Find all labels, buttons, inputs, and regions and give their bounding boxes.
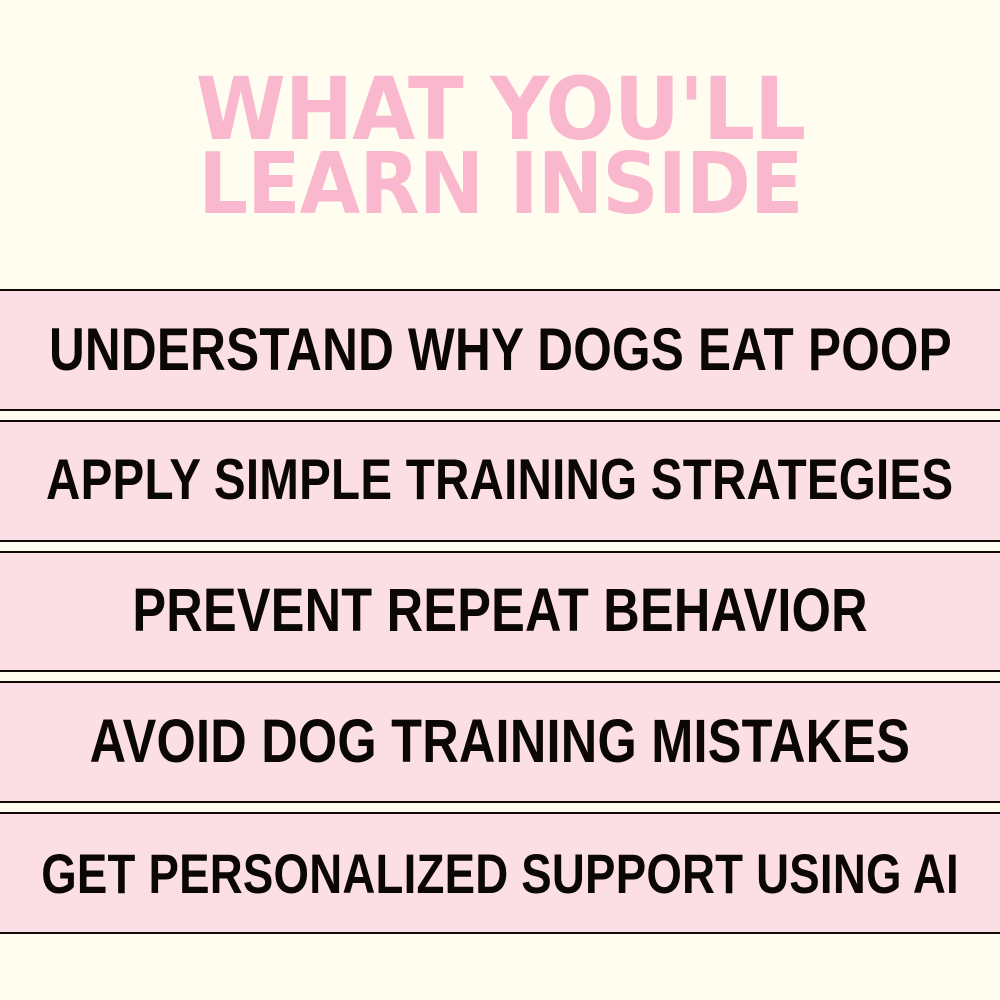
page-title: WHAT YOU'LL LEARN INSIDE xyxy=(0,0,1000,289)
list-item-label: GET PERSONALIZED SUPPORT USING AI xyxy=(41,845,959,900)
list-divider xyxy=(0,411,1000,420)
list-item: UNDERSTAND WHY DOGS EAT POOP xyxy=(0,289,1000,411)
footer-spacer xyxy=(0,934,1000,1000)
list-item-label: APPLY SIMPLE TRAINING STRATEGIES xyxy=(46,452,953,510)
benefits-list: UNDERSTAND WHY DOGS EAT POOP APPLY SIMPL… xyxy=(0,289,1000,1000)
list-item-label: UNDERSTAND WHY DOGS EAT POOP xyxy=(49,320,952,380)
list-divider xyxy=(0,803,1000,812)
list-item-label: PREVENT REPEAT BEHAVIOR xyxy=(132,581,867,642)
list-divider xyxy=(0,672,1000,681)
poster-canvas: WHAT YOU'LL LEARN INSIDE UNDERSTAND WHY … xyxy=(0,0,1000,1000)
list-divider xyxy=(0,542,1000,551)
list-item: PREVENT REPEAT BEHAVIOR xyxy=(0,551,1000,673)
list-item: GET PERSONALIZED SUPPORT USING AI xyxy=(0,812,1000,934)
list-item: AVOID DOG TRAINING MISTAKES xyxy=(0,681,1000,803)
page-title-line-2: LEARN INSIDE xyxy=(198,147,802,222)
list-item: APPLY SIMPLE TRAINING STRATEGIES xyxy=(0,420,1000,542)
list-item-label: AVOID DOG TRAINING MISTAKES xyxy=(90,712,910,773)
